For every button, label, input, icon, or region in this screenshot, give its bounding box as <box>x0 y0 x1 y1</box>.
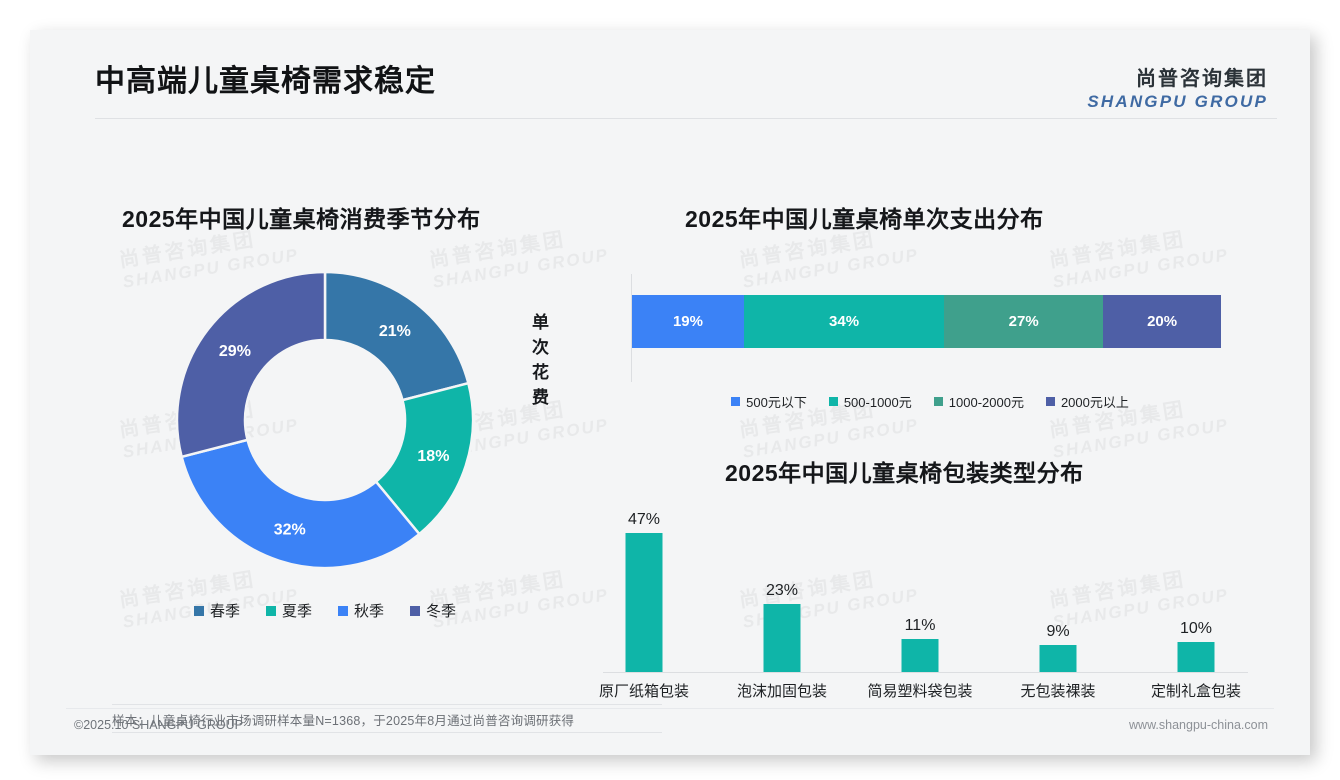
donut-slice-value: 21% <box>379 323 411 340</box>
bar-value-label: 11% <box>851 617 989 635</box>
donut-slice[interactable] <box>182 440 420 568</box>
bar-value-label: 23% <box>713 582 851 600</box>
stacked-category-label: 单次花费 <box>532 308 550 408</box>
donut-legend-item[interactable]: 春季 <box>194 600 240 621</box>
slide-header: 中高端儿童桌椅需求稳定 尚普咨询集团 SHANGPU GROUP <box>30 30 1310 120</box>
stacked-legend-label: 1000-2000元 <box>949 392 1024 411</box>
bar-rect[interactable] <box>764 604 801 672</box>
bar-column: 10% <box>1127 500 1265 672</box>
bar-category-label: 无包装裸装 <box>983 680 1133 701</box>
stacked-legend-item[interactable]: 500元以下 <box>731 392 807 411</box>
donut-legend-label: 春季 <box>210 600 240 621</box>
stacked-legend: 500元以下500-1000元1000-2000元2000元以上 <box>650 392 1210 411</box>
legend-swatch-icon <box>338 606 348 616</box>
donut-legend-item[interactable]: 秋季 <box>338 600 384 621</box>
donut-legend-label: 秋季 <box>354 600 384 621</box>
bar-category-label: 简易塑料袋包装 <box>845 680 995 701</box>
stacked-legend-label: 2000元以上 <box>1061 392 1129 411</box>
slide-card: 尚普咨询集团SHANGPU GROUP 尚普咨询集团SHANGPU GROUP … <box>30 30 1310 755</box>
bar-chart-title: 2025年中国儿童桌椅包装类型分布 <box>725 454 1084 488</box>
bar-rect[interactable] <box>626 533 663 672</box>
stacked-legend-item[interactable]: 1000-2000元 <box>934 392 1024 411</box>
donut-chart: 21%18%32%29% 春季夏季秋季冬季 <box>90 260 560 621</box>
legend-swatch-icon <box>829 397 838 406</box>
page-title: 中高端儿童桌椅需求稳定 <box>95 56 436 100</box>
stacked-bar-track: 19%34%27%20% <box>632 295 1221 348</box>
legend-swatch-icon <box>266 606 276 616</box>
donut-legend-item[interactable]: 夏季 <box>266 600 312 621</box>
donut-slice-value: 32% <box>274 521 306 538</box>
logo-english-text: SHANGPU GROUP <box>1087 92 1268 112</box>
legend-swatch-icon <box>410 606 420 616</box>
legend-swatch-icon <box>731 397 740 406</box>
footnote-divider-bottom <box>112 732 662 733</box>
packaging-bar-chart: 47%23%11%9%10% 原厂纸箱包装泡沫加固包装简易塑料袋包装无包装裸装定… <box>575 500 1265 710</box>
bar-value-label: 9% <box>989 623 1127 641</box>
donut-legend-label: 夏季 <box>282 600 312 621</box>
donut-legend: 春季夏季秋季冬季 <box>90 600 560 621</box>
footer-copyright: ©2025.10 SHANGPU GROUP <box>74 718 243 732</box>
bar-category-label: 泡沫加固包装 <box>707 680 857 701</box>
donut-chart-title: 2025年中国儿童桌椅消费季节分布 <box>122 200 481 234</box>
stacked-chart-title: 2025年中国儿童桌椅单次支出分布 <box>685 200 1044 234</box>
bar-rect[interactable] <box>902 639 939 672</box>
bar-rect[interactable] <box>1178 642 1215 672</box>
bar-chart-plot: 47%23%11%9%10% <box>575 500 1265 672</box>
stacked-bar-segment[interactable]: 27% <box>944 295 1103 348</box>
legend-swatch-icon <box>1046 397 1055 406</box>
bar-value-label: 10% <box>1127 620 1265 638</box>
donut-slice-value: 29% <box>219 343 251 360</box>
header-divider <box>95 118 1277 119</box>
bar-value-label: 47% <box>575 511 713 529</box>
stacked-bar-segment[interactable]: 34% <box>744 295 944 348</box>
footnote-divider-top <box>112 704 662 705</box>
bar-column: 47% <box>575 500 713 672</box>
watermark-en: SHANGPU GROUP <box>741 245 920 292</box>
bar-rect[interactable] <box>1040 645 1077 672</box>
bar-chart-baseline <box>603 672 1248 673</box>
bar-column: 23% <box>713 500 851 672</box>
stacked-legend-label: 500元以下 <box>746 392 807 411</box>
donut-legend-label: 冬季 <box>426 600 456 621</box>
stacked-legend-label: 500-1000元 <box>844 392 912 411</box>
brand-logo: 尚普咨询集团 SHANGPU GROUP <box>1087 62 1268 112</box>
donut-chart-svg: 21%18%32%29% <box>165 260 485 580</box>
bar-column: 11% <box>851 500 989 672</box>
logo-chinese-text: 尚普咨询集团 <box>1087 62 1268 91</box>
watermark-cn: 尚普咨询集团 <box>1048 222 1227 273</box>
stacked-bar-segment[interactable]: 20% <box>1103 295 1221 348</box>
stacked-bar-segment[interactable]: 19% <box>632 295 744 348</box>
bar-column: 9% <box>989 500 1127 672</box>
bar-category-label: 原厂纸箱包装 <box>569 680 719 701</box>
donut-slice[interactable] <box>177 272 325 457</box>
legend-swatch-icon <box>934 397 943 406</box>
donut-legend-item[interactable]: 冬季 <box>410 600 456 621</box>
stacked-legend-item[interactable]: 2000元以上 <box>1046 392 1129 411</box>
legend-swatch-icon <box>194 606 204 616</box>
stacked-legend-item[interactable]: 500-1000元 <box>829 392 912 411</box>
donut-slice-value: 18% <box>417 448 449 465</box>
footer-website[interactable]: www.shangpu-china.com <box>1129 718 1268 732</box>
watermark-en: SHANGPU GROUP <box>1051 245 1230 292</box>
bar-category-label: 定制礼盒包装 <box>1121 680 1271 701</box>
